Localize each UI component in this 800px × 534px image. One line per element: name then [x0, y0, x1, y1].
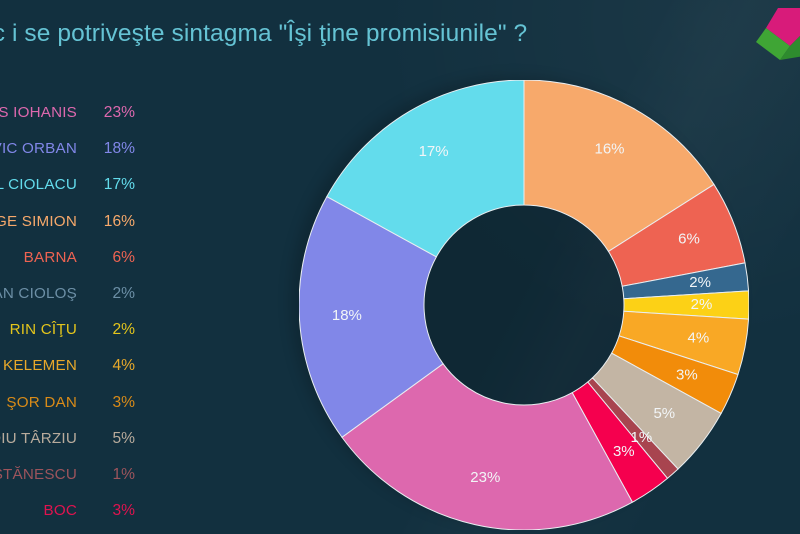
legend-item: AN CIOLOŞ2%: [0, 285, 154, 321]
donut-slice-label: 16%: [594, 140, 624, 157]
legend-item: OR KELEMEN4%: [0, 357, 154, 393]
page-title: lider politic i se potriveşte sintagma "…: [0, 20, 648, 48]
legend: US IOHANIS23%OVIC ORBAN18%CEL CIOLACU17%…: [0, 104, 154, 534]
legend-item: L STĂNESCU1%: [0, 466, 154, 502]
legend-item-label: L STĂNESCU: [0, 466, 77, 483]
legend-item: CEL CIOLACU17%: [0, 176, 154, 212]
legend-item-label: UDIU TÂRZIU: [0, 430, 77, 447]
donut-slice-label: 2%: [689, 274, 711, 291]
donut-slice-label: 3%: [676, 366, 698, 383]
legend-item-value: 18%: [77, 140, 135, 158]
donut-slice-label: 17%: [419, 143, 449, 160]
donut-slice-label: 4%: [688, 329, 710, 346]
legend-item-value: 4%: [77, 357, 135, 375]
donut-slice-label: 2%: [691, 296, 713, 313]
legend-item: BARNA6%: [0, 249, 154, 285]
legend-item-label: BARNA: [0, 249, 77, 266]
donut-slice-label: 3%: [613, 443, 635, 460]
legend-item-label: US IOHANIS: [0, 104, 77, 121]
donut-svg: 16%6%2%2%4%3%5%1%3%23%18%17%: [299, 80, 749, 530]
logo-mark-icon: [744, 6, 800, 62]
donut-slice-label: 18%: [332, 307, 362, 324]
legend-item-value: 5%: [77, 430, 135, 448]
legend-item: BOC3%: [0, 502, 154, 534]
legend-item-label: RGE SIMION: [0, 213, 77, 230]
legend-item-label: ŞOR DAN: [0, 394, 77, 411]
donut-slice-label: 23%: [470, 469, 500, 486]
legend-item-label: CEL CIOLACU: [0, 176, 77, 193]
legend-item-label: OR KELEMEN: [0, 357, 77, 374]
donut-chart: 16%6%2%2%4%3%5%1%3%23%18%17%: [299, 80, 749, 530]
legend-item-value: 2%: [77, 321, 135, 339]
legend-item-value: 17%: [77, 176, 135, 194]
legend-item-value: 3%: [77, 502, 135, 520]
legend-item-value: 2%: [77, 285, 135, 303]
donut-slice-label: 5%: [653, 405, 675, 422]
legend-item-value: 16%: [77, 213, 135, 231]
legend-item-value: 1%: [77, 466, 135, 484]
legend-item: OVIC ORBAN18%: [0, 140, 154, 176]
legend-item-value: 23%: [77, 104, 135, 122]
legend-item: RIN CÎŢU2%: [0, 321, 154, 357]
legend-item-label: AN CIOLOŞ: [0, 285, 77, 302]
legend-item-label: RIN CÎŢU: [0, 321, 77, 338]
brand-logo: IN: [730, 6, 800, 84]
donut-slice-label: 6%: [678, 231, 700, 248]
legend-item-label: BOC: [0, 502, 77, 519]
donut-slices: [299, 80, 749, 530]
legend-item-value: 3%: [77, 394, 135, 412]
legend-item-value: 6%: [77, 249, 135, 267]
legend-item: UDIU TÂRZIU5%: [0, 430, 154, 466]
legend-item: ŞOR DAN3%: [0, 394, 154, 430]
legend-item-label: OVIC ORBAN: [0, 140, 77, 157]
legend-item: US IOHANIS23%: [0, 104, 154, 140]
legend-item: RGE SIMION16%: [0, 213, 154, 249]
